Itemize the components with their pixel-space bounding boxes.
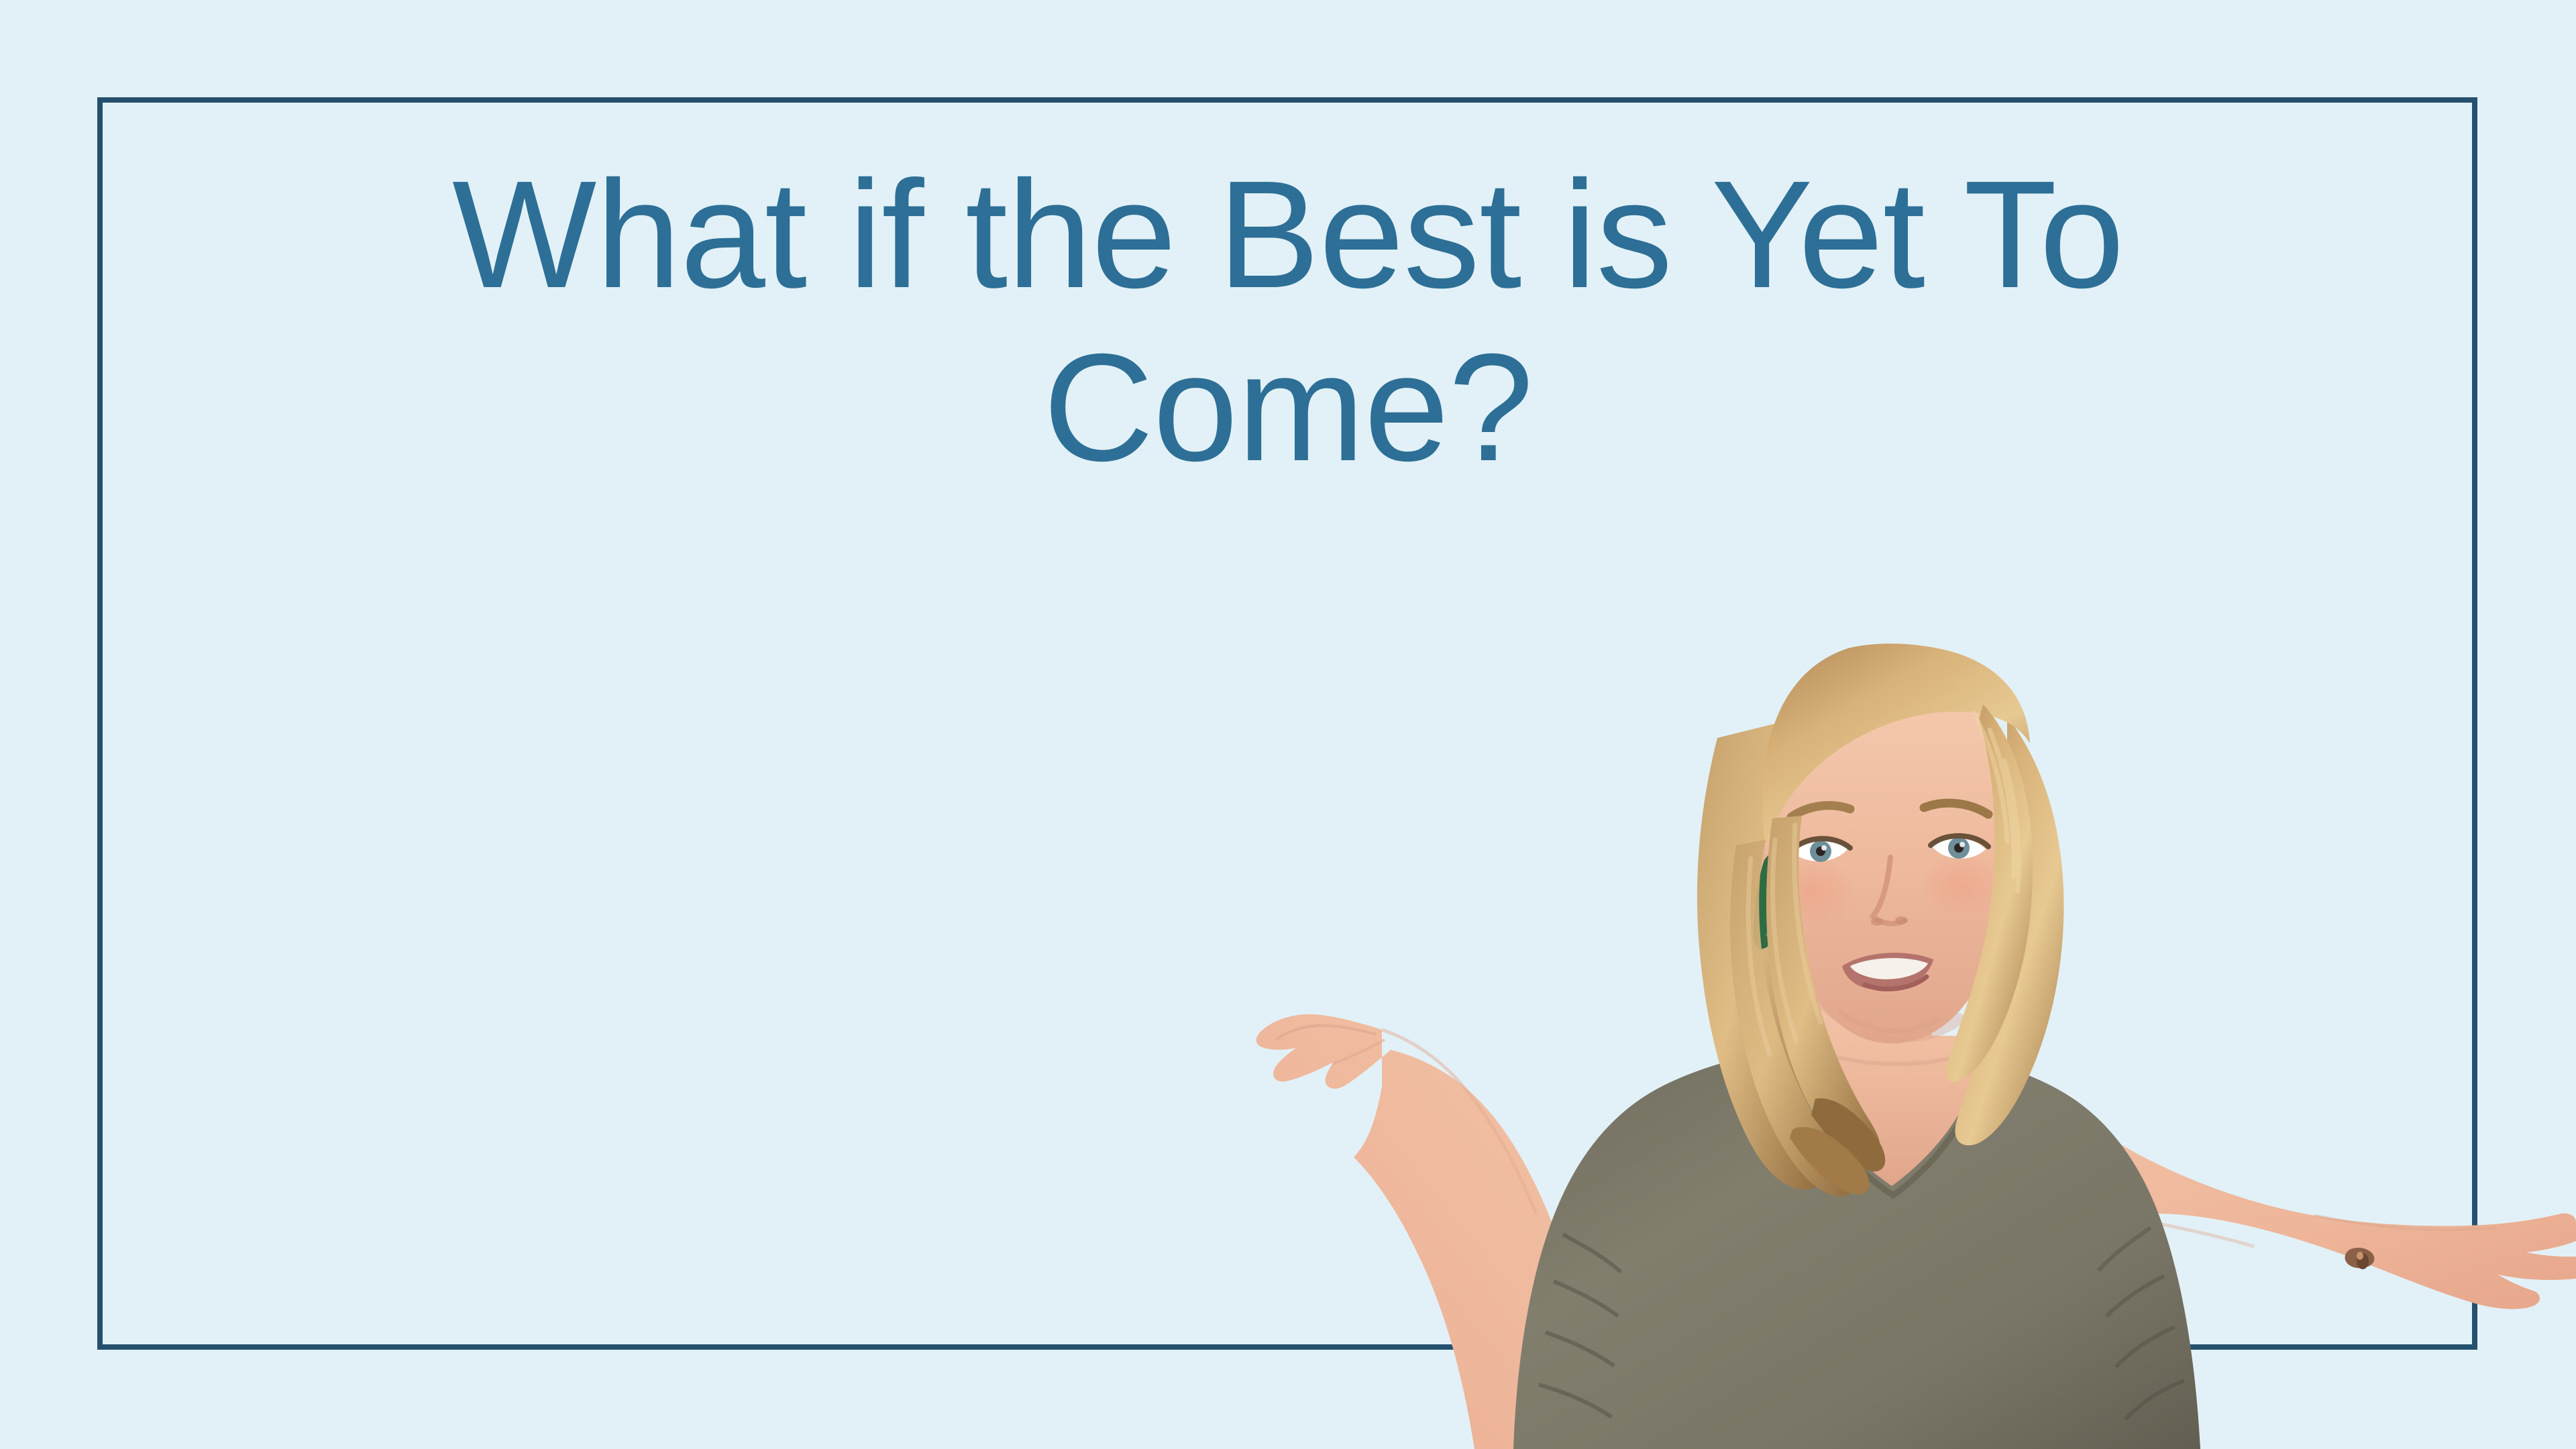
decorative-rectangle-border	[97, 97, 2477, 1350]
slide-canvas: What if the Best is Yet To Come?	[0, 0, 2576, 1449]
